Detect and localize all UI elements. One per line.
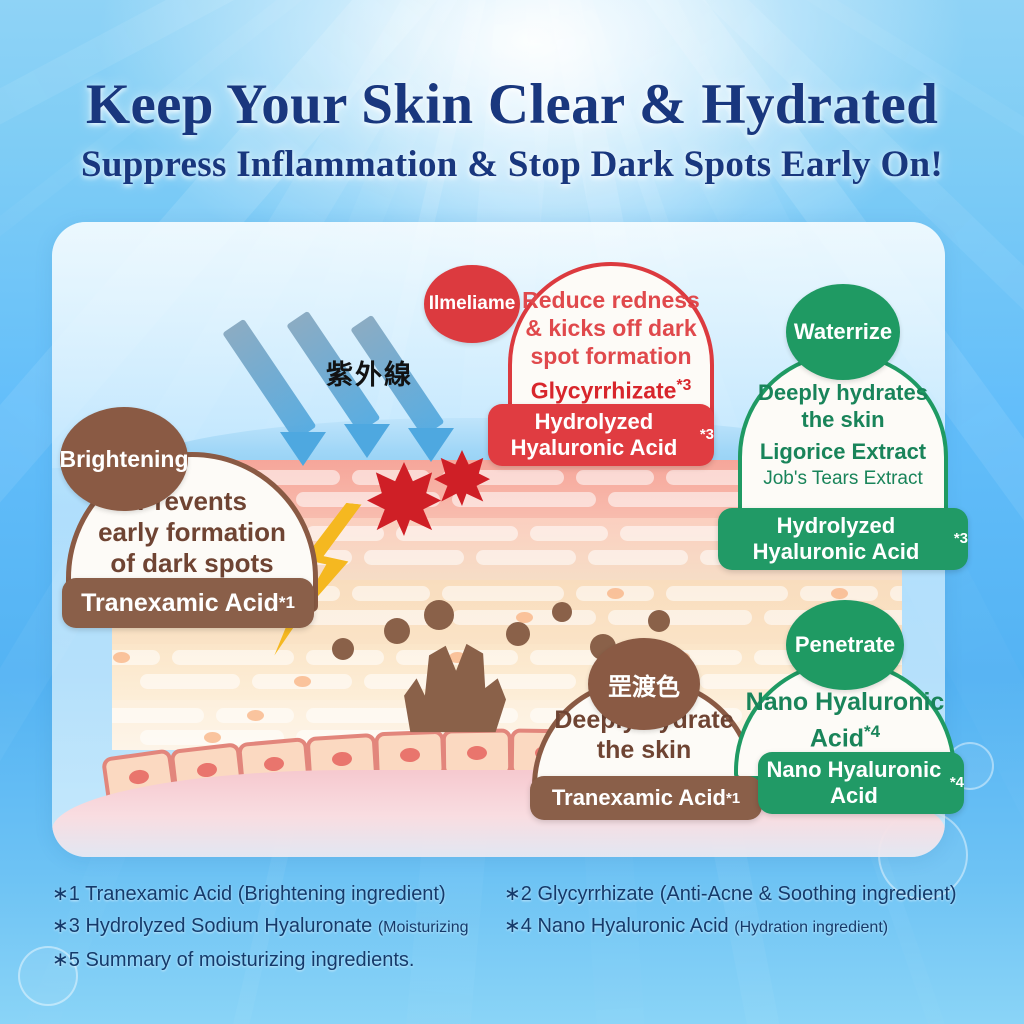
- banner-text: Hydrolyzed Hyaluronic Acid: [718, 513, 954, 565]
- skin-cell-brick: [576, 470, 654, 485]
- infographic-root: Keep Your Skin Clear & Hydrated Suppress…: [0, 0, 1024, 1024]
- cell-nucleus: [831, 588, 848, 599]
- skin-cell-brick: [352, 586, 430, 601]
- uv-arrow-head-icon: [408, 428, 454, 462]
- footnote-marker: ∗3: [52, 915, 80, 937]
- footnote-4: ∗4 Nano Hyaluronic Acid (Hydration ingre…: [504, 916, 888, 938]
- callout-line-sup: *4: [864, 722, 880, 741]
- callout-subline: Job's Tears Extract: [763, 465, 923, 492]
- footnote-name: Hydrolyzed Sodium Hyaluronate: [85, 915, 372, 937]
- footnote-5: ∗5 Summary of moisturizing ingredients.: [52, 950, 414, 970]
- skin-cell-brick: [608, 610, 752, 625]
- footnote-name: Nano Hyaluronic Acid: [537, 915, 728, 937]
- highlight-sup: *3: [676, 377, 691, 394]
- banner-sup: *1: [279, 593, 295, 613]
- skin-cell-brick: [396, 526, 518, 541]
- callout-badge[interactable]: Penetrate: [786, 600, 904, 690]
- banner-sup: *3: [954, 526, 968, 552]
- page-subtitle: Suppress Inflammation & Stop Dark Spots …: [0, 143, 1024, 187]
- melanin-dot-icon: [552, 602, 572, 622]
- skin-cell-brick: [608, 492, 752, 507]
- callout-highlight: Ligorice Extract: [760, 438, 926, 465]
- skin-cell-brick: [364, 550, 464, 565]
- callout-line-text: Acid: [810, 724, 864, 752]
- banner-text: Tranexamic Acid: [552, 785, 726, 811]
- skin-cell-brick: [442, 586, 564, 601]
- callout-line: the skin: [801, 406, 884, 433]
- melanin-dot-icon: [506, 622, 530, 646]
- skin-cell-brick: [530, 526, 608, 541]
- callout-highlight: Glycyrrhizate*3: [531, 372, 692, 405]
- skin-cell-brick: [140, 674, 240, 689]
- callout-banner[interactable]: Tranexamic Acid*1: [530, 776, 762, 820]
- callout-badge[interactable]: Ilmeliame: [424, 265, 520, 343]
- callout-line: Reduce redness: [522, 286, 700, 314]
- banner-text: Hydrolyzed Hyaluronic Acid: [488, 409, 700, 461]
- uv-arrow-head-icon: [344, 424, 390, 458]
- callout-line: & kicks off dark: [525, 314, 696, 342]
- callout-line: spot formation: [531, 342, 692, 370]
- highlight-text: Glycyrrhizate: [531, 377, 677, 403]
- callout-line: of dark spots: [110, 548, 273, 579]
- banner-sup: *1: [726, 790, 740, 807]
- skin-cell-brick: [306, 526, 384, 541]
- melanin-dot-icon: [384, 618, 410, 644]
- skin-cell-brick: [666, 586, 788, 601]
- footnote-1: ∗1 Tranexamic Acid (Brightening ingredie…: [52, 884, 446, 904]
- cell-nucleus: [113, 652, 130, 663]
- cell-nucleus: [294, 676, 311, 687]
- skin-cell-brick: [890, 586, 902, 601]
- melanin-dot-icon: [332, 638, 354, 660]
- page-title: Keep Your Skin Clear & Hydrated: [0, 74, 1024, 136]
- banner-text: Tranexamic Acid: [81, 589, 279, 618]
- footnote-3: ∗3 Hydrolyzed Sodium Hyaluronate (Moistu…: [52, 916, 469, 938]
- footnote-note: (Brightening ingredient): [238, 883, 446, 905]
- callout-banner[interactable]: Hydrolyzed Hyaluronic Acid*3: [718, 508, 968, 570]
- melanin-dot-icon: [424, 600, 454, 630]
- footnote-note: (Hydration ingredient): [734, 919, 888, 936]
- footnote-marker: ∗2: [504, 883, 532, 905]
- skin-cell-brick: [112, 708, 204, 723]
- cell-nucleus: [607, 588, 624, 599]
- cell-nucleus: [247, 710, 264, 721]
- callout-banner[interactable]: Hydrolyzed Hyaluronic Acid*3: [488, 404, 714, 466]
- footnote-marker: ∗5: [52, 949, 80, 971]
- skin-cell-brick: [476, 550, 576, 565]
- melanin-dot-icon: [648, 610, 670, 632]
- callout-badge[interactable]: Waterrize: [786, 284, 900, 380]
- footnote-name: Summary of moisturizing ingredients.: [85, 949, 414, 971]
- skin-cell-brick: [588, 550, 688, 565]
- callout-line: Deeply hydrates: [758, 379, 928, 406]
- skin-cell-brick: [296, 610, 440, 625]
- callout-badge[interactable]: 罡渡色: [588, 638, 700, 730]
- banner-sup: *4: [950, 770, 964, 796]
- banner-sup: *3: [700, 422, 714, 448]
- footnote-name: Glycyrrhizate: [537, 883, 654, 905]
- uv-label: 紫外線: [326, 353, 413, 392]
- callout-banner[interactable]: Tranexamic Acid*1: [62, 578, 314, 628]
- footnote-marker: ∗4: [504, 915, 532, 937]
- footnote-note: (Moisturizing: [378, 919, 469, 936]
- callout-banner[interactable]: Nano Hyaluronic Acid*4: [758, 752, 964, 814]
- callout-line: early formation: [98, 517, 286, 548]
- callout-line: the skin: [597, 735, 691, 765]
- footnote-2: ∗2 Glycyrrhizate (Anti-Acne & Soothing i…: [504, 884, 957, 904]
- callout-line: Acid*4: [810, 717, 880, 753]
- footnote-marker: ∗1: [52, 883, 80, 905]
- footnote-name: Tranexamic Acid: [85, 883, 232, 905]
- banner-text: Nano Hyaluronic Acid: [758, 757, 950, 809]
- footnote-note: (Anti-Acne & Soothing ingredient): [660, 883, 957, 905]
- uv-arrow-head-icon: [280, 432, 326, 466]
- callout-badge[interactable]: Brightening: [60, 407, 188, 511]
- callout-line: Nano Hyaluronic: [746, 687, 945, 717]
